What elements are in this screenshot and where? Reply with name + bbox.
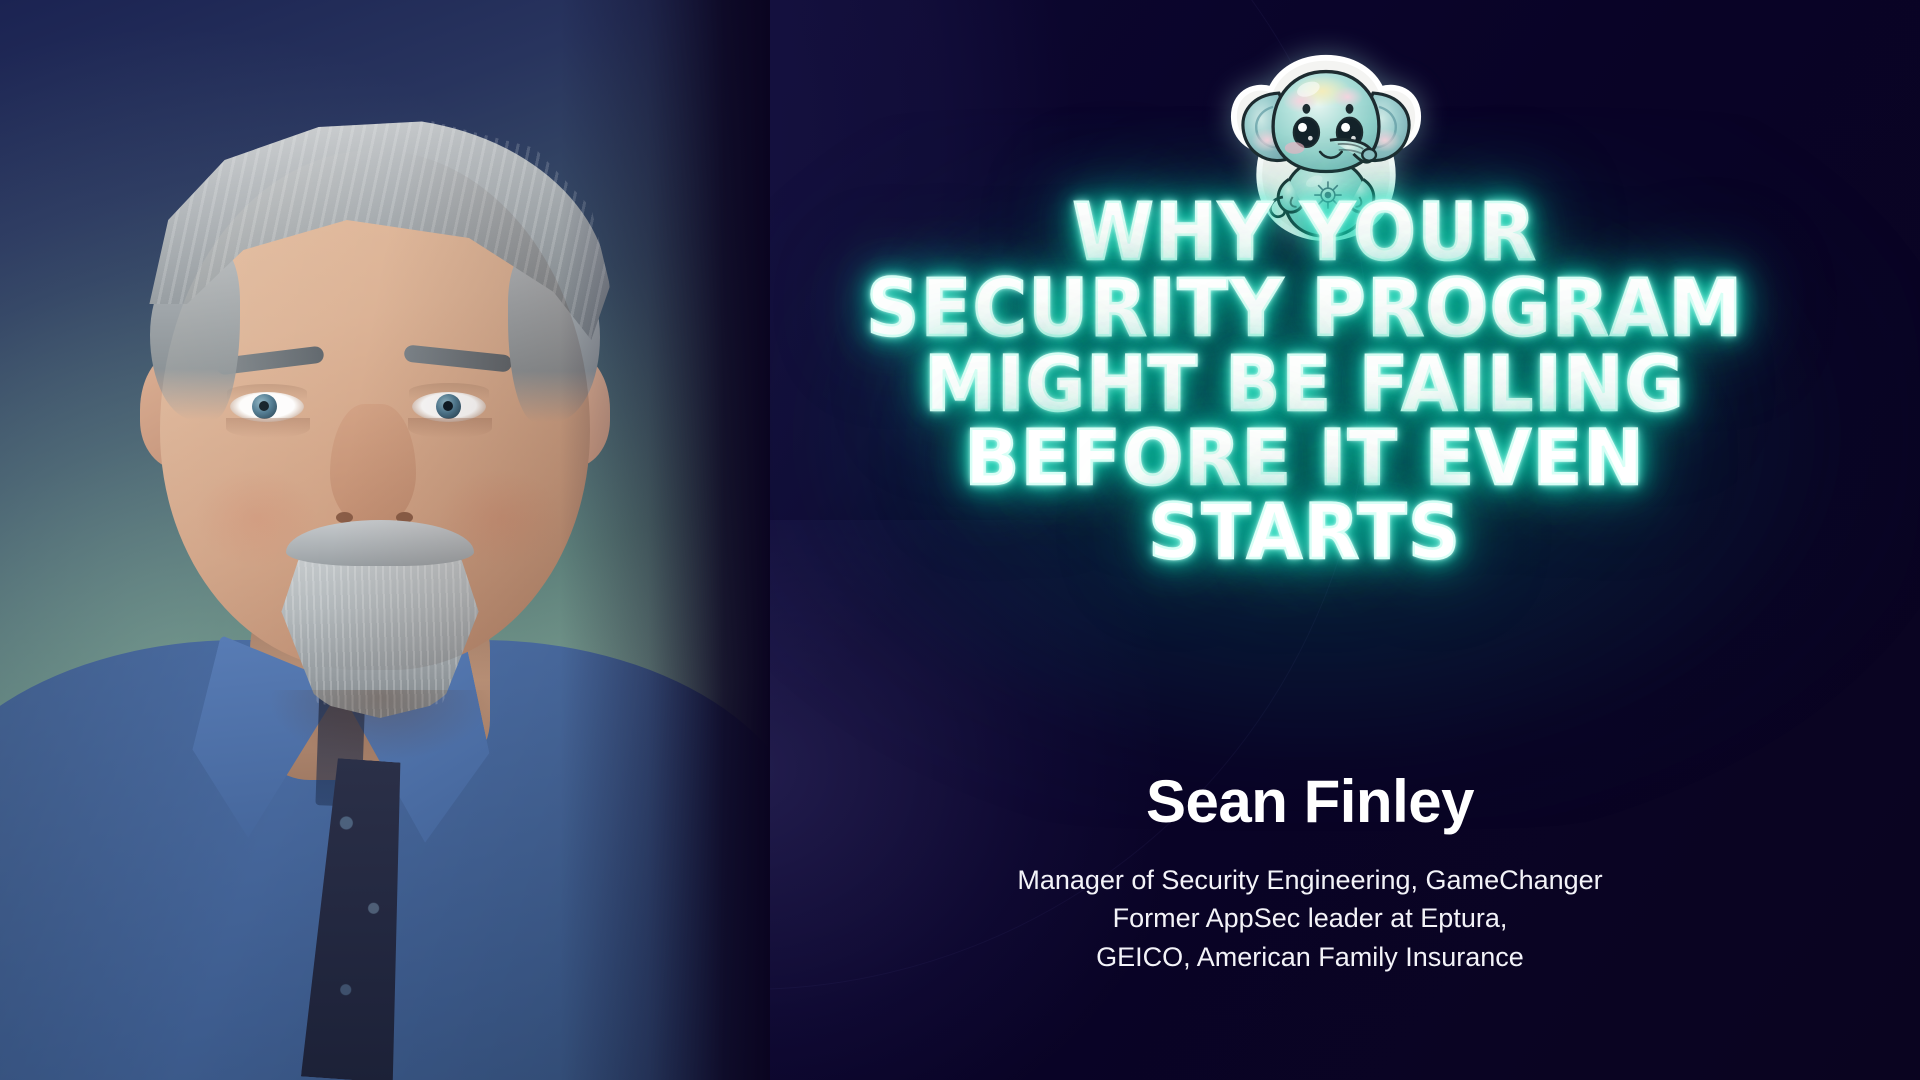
- elephant-mascot-icon: [1228, 48, 1424, 248]
- speaker-name: Sean Finley: [700, 770, 1920, 833]
- credential-line-1: Manager of Security Engineering, GameCha…: [700, 861, 1920, 899]
- chin-shadow: [270, 690, 490, 760]
- speaker-credentials: Manager of Security Engineering, GameCha…: [700, 861, 1920, 976]
- speaker-headshot-photo: [0, 0, 770, 1080]
- speaker-block: Sean Finley Manager of Security Engineer…: [700, 770, 1920, 976]
- photo-edge-fade: [560, 0, 770, 1080]
- credential-line-3: GEICO, American Family Insurance: [700, 938, 1920, 976]
- webinar-promo-poster: WHY YOUR SECURITY PROGRAM MIGHT BE FAILI…: [0, 0, 1920, 1080]
- credential-line-2: Former AppSec leader at Eptura,: [700, 899, 1920, 937]
